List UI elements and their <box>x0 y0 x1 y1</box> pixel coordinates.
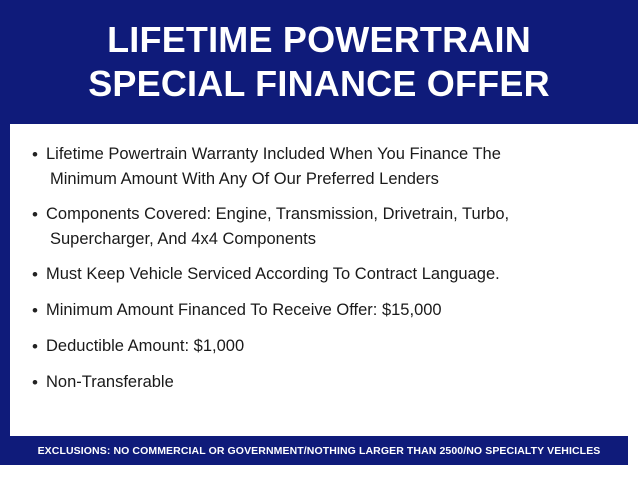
bullet-marker-icon: • <box>24 298 46 324</box>
list-item: • Lifetime Powertrain Warranty Included … <box>24 142 624 192</box>
list-item-line-1: Minimum Amount Financed To Receive Offer… <box>46 301 442 319</box>
list-item-line-1: Non-Transferable <box>46 373 174 391</box>
bullet-marker-icon: • <box>24 334 46 360</box>
slide-root: LIFETIME POWERTRAIN SPECIAL FINANCE OFFE… <box>0 0 638 479</box>
list-item-text: Components Covered: Engine, Transmission… <box>46 202 509 252</box>
bullet-marker-icon: • <box>24 142 46 168</box>
list-item: • Deductible Amount: $1,000 <box>24 334 624 360</box>
bottom-whitespace <box>0 465 638 479</box>
list-item-line-2: Minimum Amount With Any Of Our Preferred… <box>46 167 501 192</box>
header-title-line-2: SPECIAL FINANCE OFFER <box>88 62 550 106</box>
bullet-list: • Lifetime Powertrain Warranty Included … <box>10 124 638 424</box>
header-title-line-1: LIFETIME POWERTRAIN <box>107 18 531 62</box>
list-item-line-2: Supercharger, And 4x4 Components <box>46 227 509 252</box>
list-item-text: Minimum Amount Financed To Receive Offer… <box>46 298 442 323</box>
list-item-text: Must Keep Vehicle Serviced According To … <box>46 262 500 287</box>
exclusions-footer-text: EXCLUSIONS: NO COMMERCIAL OR GOVERNMENT/… <box>38 445 601 457</box>
list-item-line-1: Must Keep Vehicle Serviced According To … <box>46 265 500 283</box>
bullet-marker-icon: • <box>24 370 46 396</box>
list-item-text: Lifetime Powertrain Warranty Included Wh… <box>46 142 501 192</box>
list-item-text: Non-Transferable <box>46 370 174 395</box>
list-item-line-1: Deductible Amount: $1,000 <box>46 337 244 355</box>
exclusions-footer-banner: EXCLUSIONS: NO COMMERCIAL OR GOVERNMENT/… <box>10 436 628 465</box>
bullet-marker-icon: • <box>24 202 46 228</box>
list-item-line-1: Lifetime Powertrain Warranty Included Wh… <box>46 145 501 163</box>
list-item-line-1: Components Covered: Engine, Transmission… <box>46 205 509 223</box>
list-item: • Non-Transferable <box>24 370 624 396</box>
slide-header: LIFETIME POWERTRAIN SPECIAL FINANCE OFFE… <box>0 0 638 124</box>
list-item: • Components Covered: Engine, Transmissi… <box>24 202 624 252</box>
list-item: • Minimum Amount Financed To Receive Off… <box>24 298 624 324</box>
bullet-marker-icon: • <box>24 262 46 288</box>
list-item: • Must Keep Vehicle Serviced According T… <box>24 262 624 288</box>
list-item-text: Deductible Amount: $1,000 <box>46 334 244 359</box>
